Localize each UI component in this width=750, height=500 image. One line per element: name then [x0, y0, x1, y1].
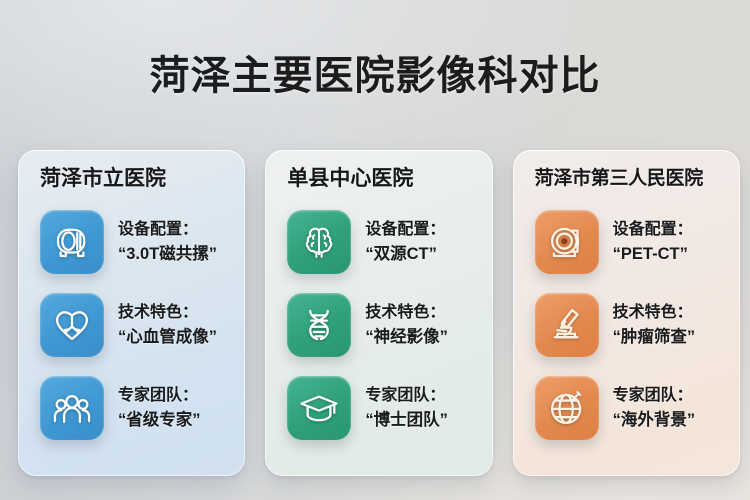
dna-helix-icon: [287, 293, 351, 357]
feature-label: 技术特色：: [613, 302, 696, 324]
feature-row[interactable]: 专家团队： “海外背景”: [535, 372, 726, 444]
feature-text: 技术特色： “神经影像”: [365, 302, 448, 348]
feature-text: 专家团队： “博士团队”: [365, 385, 448, 431]
hospital-card-3[interactable]: 菏泽市第三人民医院 设备配置： “PET-CT”: [513, 150, 740, 476]
feature-text: 技术特色： “心血管成像”: [118, 302, 217, 348]
feature-value: “神经影像”: [365, 326, 448, 348]
feature-row[interactable]: 技术特色： “肿瘤筛查”: [535, 289, 726, 361]
hospital-comparison-cards: 菏泽市立医院 设备配置： “3.0T磁共摞”: [18, 150, 740, 476]
feature-label: 专家团队：: [365, 385, 448, 407]
feature-row[interactable]: 专家团队： “博士团队”: [287, 372, 478, 444]
microscope-icon: [535, 293, 599, 357]
feature-label: 设备配置：: [365, 219, 445, 241]
feature-label: 技术特色：: [118, 302, 217, 324]
feature-text: 设备配置： “双源CT”: [365, 219, 445, 265]
feature-value: “3.0T磁共摞”: [118, 243, 217, 265]
hospital-name: 单县中心医院: [287, 166, 478, 192]
feature-value: “海外背景”: [613, 409, 696, 431]
feature-text: 设备配置： “PET-CT”: [613, 219, 693, 265]
feature-text: 专家团队： “海外背景”: [613, 385, 696, 431]
pet-ct-scanner-icon: [535, 210, 599, 274]
feature-value: “PET-CT”: [613, 243, 693, 265]
feature-row-list: 设备配置： “3.0T磁共摞” 技术特色： “心血管成像”: [40, 206, 231, 444]
feature-row-list: 设备配置： “双源CT” 技术特色： “神经影像”: [287, 206, 478, 444]
feature-label: 专家团队：: [613, 385, 696, 407]
feature-row[interactable]: 设备配置： “3.0T磁共摞”: [40, 206, 231, 278]
feature-row[interactable]: 技术特色： “神经影像”: [287, 289, 478, 361]
feature-text: 设备配置： “3.0T磁共摞”: [118, 219, 217, 265]
feature-value: “博士团队”: [365, 409, 448, 431]
hospital-name: 菏泽市立医院: [40, 166, 231, 192]
feature-label: 设备配置：: [118, 219, 217, 241]
feature-label: 专家团队：: [118, 385, 201, 407]
globe-icon: [535, 376, 599, 440]
feature-label: 技术特色：: [365, 302, 448, 324]
feature-value: “肿瘤筛查”: [613, 326, 696, 348]
feature-text: 技术特色： “肿瘤筛查”: [613, 302, 696, 348]
feature-row[interactable]: 技术特色： “心血管成像”: [40, 289, 231, 361]
page-title: 菏泽主要医院影像科对比: [0, 52, 750, 100]
brain-icon: [287, 210, 351, 274]
feature-text: 专家团队： “省级专家”: [118, 385, 201, 431]
feature-value: “双源CT”: [365, 243, 445, 265]
people-group-icon: [40, 376, 104, 440]
feature-row-list: 设备配置： “PET-CT” 技术特色：: [535, 206, 726, 444]
heart-vessel-icon: [40, 293, 104, 357]
feature-row[interactable]: 设备配置： “PET-CT”: [535, 206, 726, 278]
graduation-cap-icon: [287, 376, 351, 440]
feature-row[interactable]: 设备配置： “双源CT”: [287, 206, 478, 278]
mri-scanner-icon: [40, 210, 104, 274]
hospital-card-1[interactable]: 菏泽市立医院 设备配置： “3.0T磁共摞”: [18, 150, 245, 476]
hospital-name: 菏泽市第三人民医院: [535, 166, 726, 192]
feature-value: “省级专家”: [118, 409, 201, 431]
feature-label: 设备配置：: [613, 219, 693, 241]
hospital-card-2[interactable]: 单县中心医院 设备配置： “: [265, 150, 492, 476]
feature-value: “心血管成像”: [118, 326, 217, 348]
feature-row[interactable]: 专家团队： “省级专家”: [40, 372, 231, 444]
